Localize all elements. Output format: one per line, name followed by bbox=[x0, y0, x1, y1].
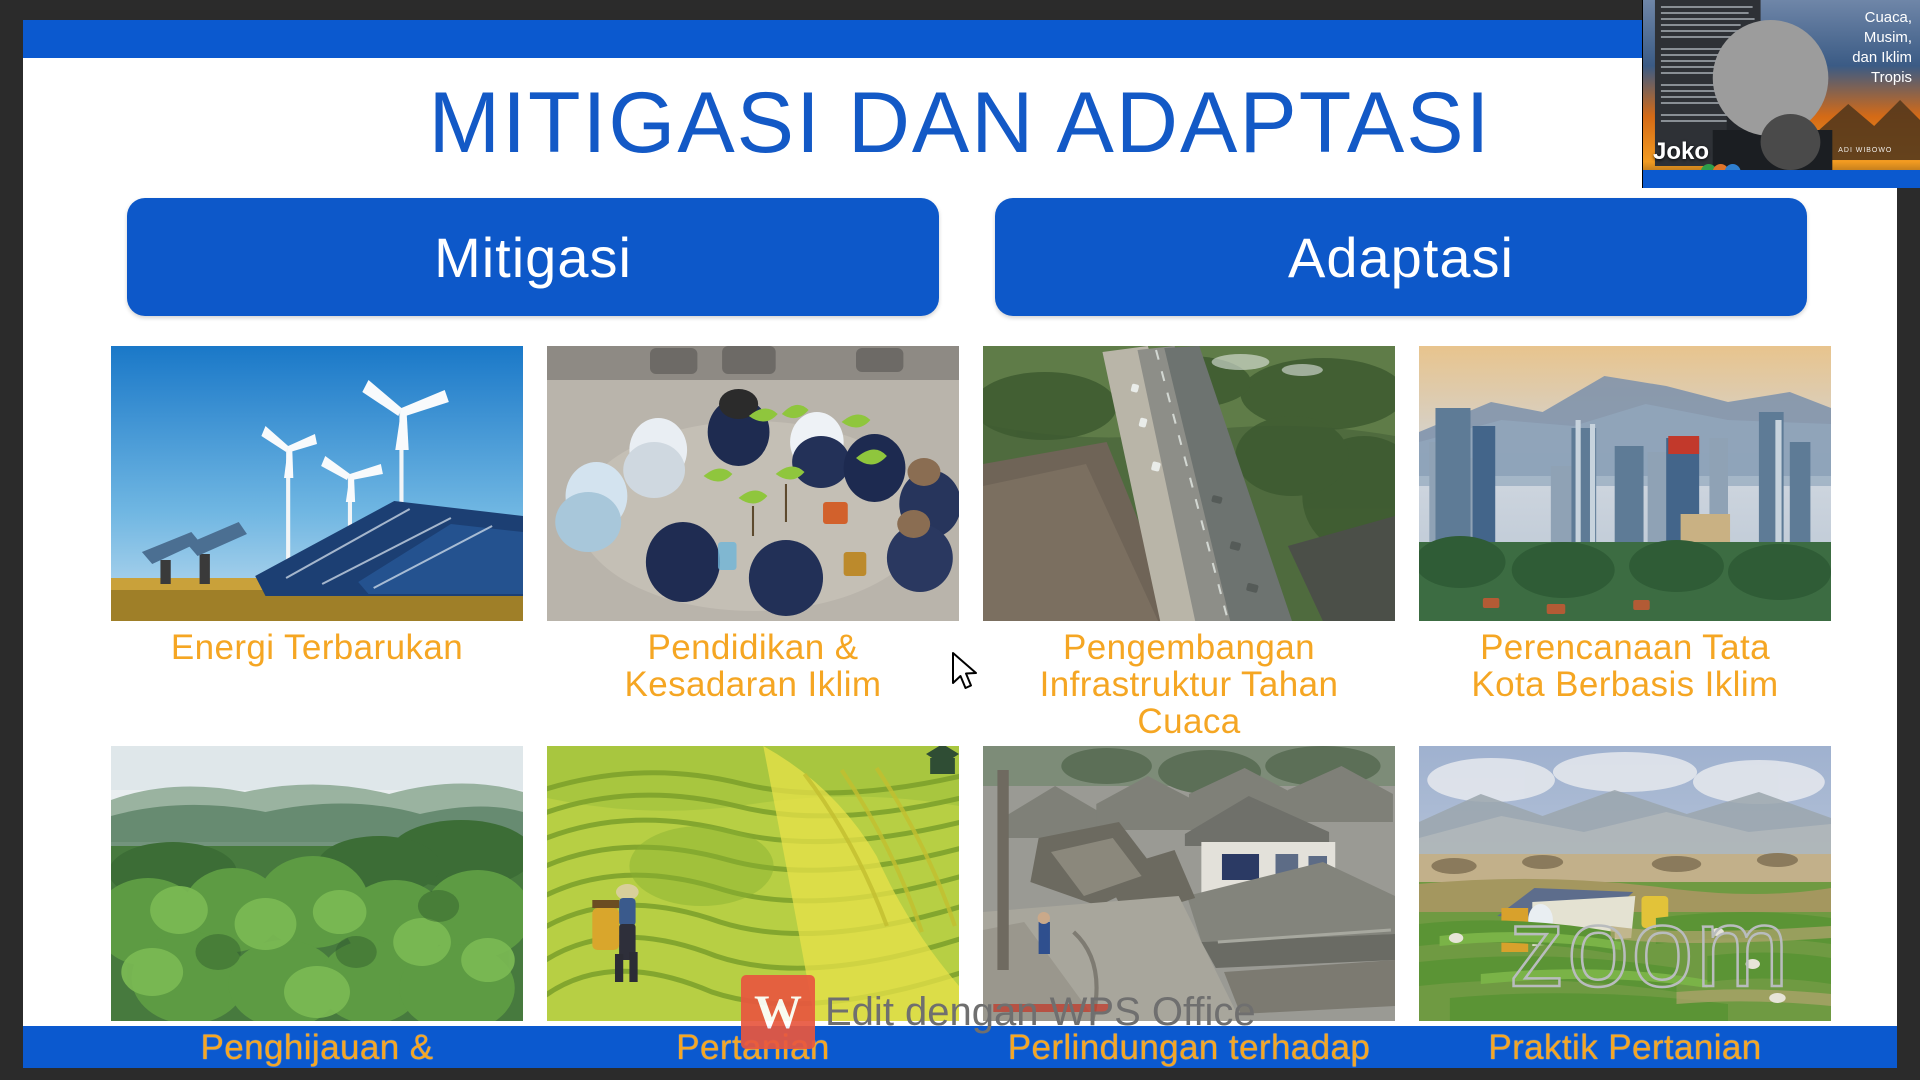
category-pill-row: Mitigasi Adaptasi bbox=[127, 198, 1807, 320]
card-caption: Praktik Pertanian Adaptif bbox=[1488, 1029, 1761, 1068]
svg-text:Musim,: Musim, bbox=[1864, 29, 1912, 46]
adaptive-farm-greenhouse-image bbox=[1419, 746, 1831, 1021]
card-caption: Perencanaan Tata Kota Berbasis Iklim bbox=[1471, 629, 1778, 703]
earthquake-damaged-houses-image bbox=[983, 746, 1395, 1021]
card-caption: Penghijauan & Konservasi Hutan bbox=[176, 1029, 459, 1068]
card-item: Perencanaan Tata Kota Berbasis Iklim bbox=[1419, 346, 1831, 740]
participant-tile-accent-strip bbox=[1643, 170, 1920, 188]
wind-turbines-solar-panels-image bbox=[111, 346, 523, 621]
svg-text:dan Iklim: dan Iklim bbox=[1852, 49, 1912, 66]
card-caption: Pengembangan Infrastruktur Tahan Cuaca bbox=[1040, 629, 1339, 740]
students-planting-seedlings-image bbox=[547, 346, 959, 621]
svg-text:ADI WIBOWO: ADI WIBOWO bbox=[1838, 147, 1892, 154]
card-item: Perlindungan terhadap Bencana Alam bbox=[983, 746, 1395, 1068]
card-item: Pertanian Berkelanjutan bbox=[547, 746, 959, 1068]
category-pill-mitigasi[interactable]: Mitigasi bbox=[127, 198, 939, 316]
card-grid: Energi Terbarukan bbox=[111, 346, 1831, 1032]
category-pill-adaptasi[interactable]: Adaptasi bbox=[995, 198, 1807, 316]
card-item: Praktik Pertanian Adaptif bbox=[1419, 746, 1831, 1068]
card-caption: Pendidikan & Kesadaran Iklim bbox=[625, 629, 882, 703]
participant-name-label: Joko bbox=[1653, 138, 1709, 166]
card-caption: Perlindungan terhadap Bencana Alam bbox=[1008, 1029, 1371, 1068]
shared-presentation-slide: MITIGASI DAN ADAPTASI Mitigasi Adaptasi bbox=[23, 20, 1897, 1068]
aerial-highway-image bbox=[983, 346, 1395, 621]
svg-text:Cuaca,: Cuaca, bbox=[1865, 9, 1912, 26]
card-item: Pengembangan Infrastruktur Tahan Cuaca bbox=[983, 346, 1395, 740]
city-skyline-mountains-image bbox=[1419, 346, 1831, 621]
category-pill-adaptasi-label: Adaptasi bbox=[1288, 225, 1514, 290]
slide-top-accent-bar bbox=[23, 20, 1897, 58]
card-item: Energi Terbarukan bbox=[111, 346, 523, 740]
svg-text:Tropis: Tropis bbox=[1871, 69, 1912, 86]
participant-video-tile[interactable]: Cuaca, Musim, dan Iklim Tropis ADI WIBOW… bbox=[1642, 0, 1920, 188]
zoom-meeting-stage: MITIGASI DAN ADAPTASI Mitigasi Adaptasi bbox=[0, 0, 1920, 1080]
card-caption: Energi Terbarukan bbox=[171, 629, 463, 666]
slide-title: MITIGASI DAN ADAPTASI bbox=[23, 78, 1897, 168]
card-caption: Pertanian Berkelanjutan bbox=[643, 1029, 862, 1068]
card-item: Pendidikan & Kesadaran Iklim bbox=[547, 346, 959, 740]
rainforest-canopy-image bbox=[111, 746, 523, 1021]
card-item: Penghijauan & Konservasi Hutan bbox=[111, 746, 523, 1068]
category-pill-mitigasi-label: Mitigasi bbox=[434, 225, 632, 290]
terraced-rice-fields-image bbox=[547, 746, 959, 1021]
